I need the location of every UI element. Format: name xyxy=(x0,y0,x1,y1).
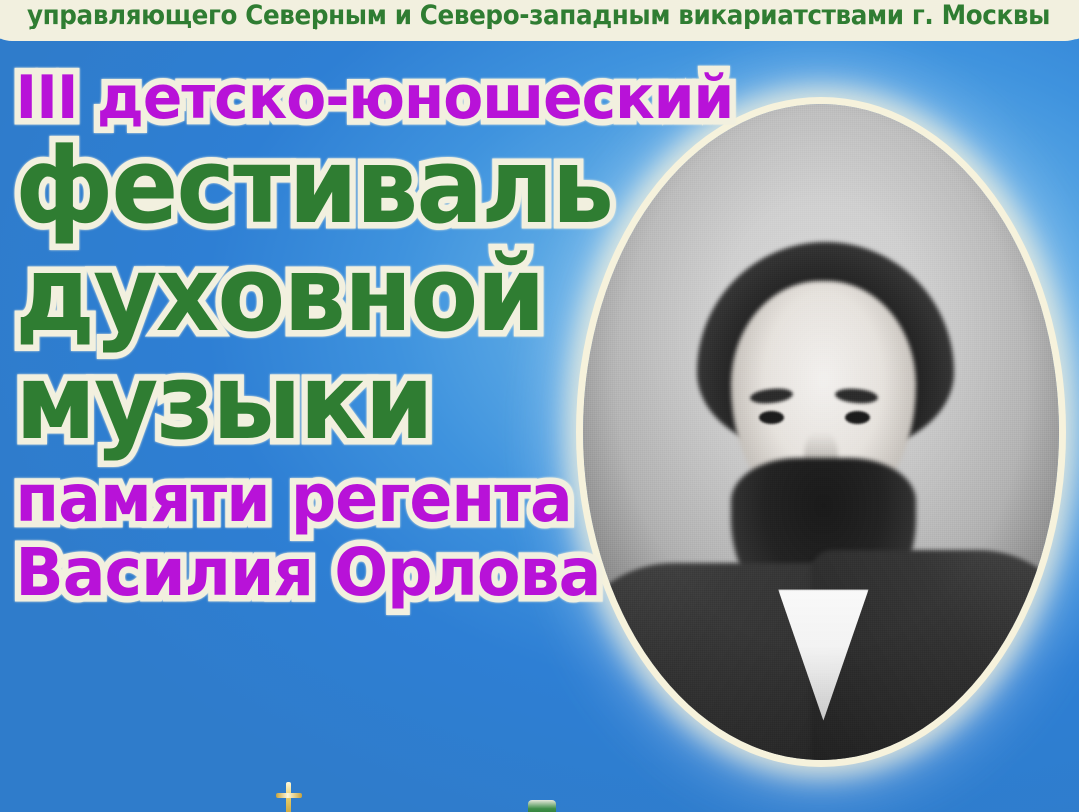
headline-line-dedication: памяти регента xyxy=(0,466,662,532)
top-ribbon-banner: управляющего Северным и Северо-западным … xyxy=(0,0,1079,38)
headline-line-sacred: духовной xyxy=(0,242,656,346)
portrait-eye-left xyxy=(759,411,784,424)
poster-canvas: управляющего Северным и Северо-западным … xyxy=(0,0,1079,812)
headline-block: III детско-юношеский фестиваль духовной … xyxy=(0,68,690,606)
headline-line-music: музыки xyxy=(0,350,656,454)
headline-line-festival: фестиваль xyxy=(0,134,656,238)
top-ribbon-text: управляющего Северным и Северо-западным … xyxy=(25,0,1053,31)
ribbon-scallop-edge xyxy=(0,29,1079,47)
headline-line-edition: III детско-юношеский xyxy=(0,68,669,128)
portrait-coat-right xyxy=(811,550,1059,760)
portrait-eye-right xyxy=(845,411,870,424)
cross-horizontal-bar xyxy=(276,793,302,798)
open-book-icon xyxy=(528,800,556,812)
headline-line-name: Василия Орлова xyxy=(0,540,662,606)
orthodox-cross-icon xyxy=(276,782,302,812)
